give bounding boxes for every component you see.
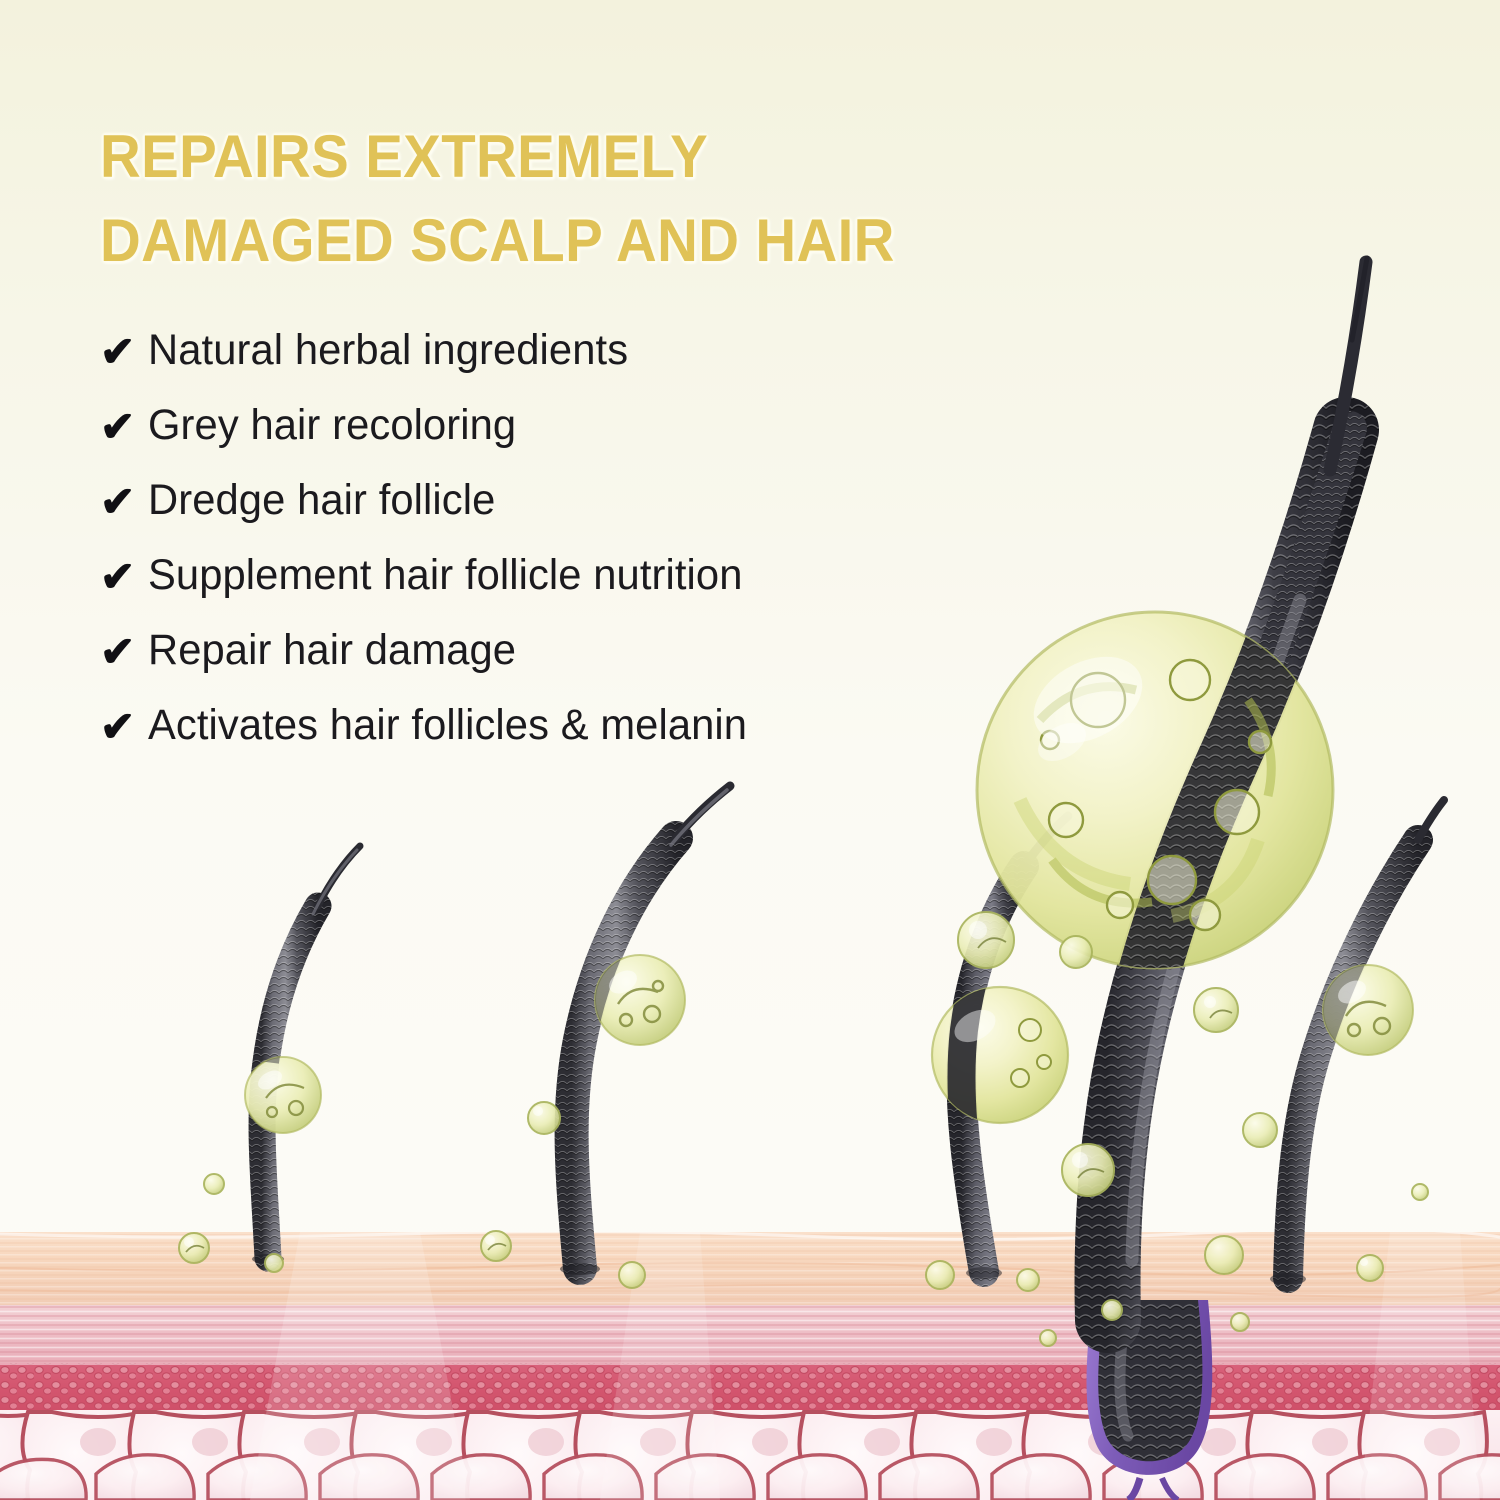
- check-icon: ✔: [100, 481, 148, 523]
- copy-block: REPAIRS EXTREMELY DAMAGED SCALP AND HAIR…: [100, 118, 1000, 774]
- list-item: ✔ Grey hair recoloring: [100, 399, 1000, 451]
- benefit-label: Dredge hair follicle: [148, 474, 495, 526]
- benefit-label: Activates hair follicles & melanin: [148, 699, 747, 751]
- check-icon: ✔: [100, 406, 148, 448]
- fat-cell-layer: [0, 1412, 1500, 1500]
- list-item: ✔ Activates hair follicles & melanin: [100, 699, 1000, 751]
- benefits-list: ✔ Natural herbal ingredients ✔ Grey hair…: [100, 324, 1000, 751]
- benefit-label: Supplement hair follicle nutrition: [148, 549, 743, 601]
- headline-line-2: DAMAGED SCALP AND HAIR: [100, 202, 946, 280]
- list-item: ✔ Repair hair damage: [100, 624, 1000, 676]
- list-item: ✔ Dredge hair follicle: [100, 474, 1000, 526]
- product-feature-poster: REPAIRS EXTREMELY DAMAGED SCALP AND HAIR…: [0, 0, 1500, 1500]
- benefit-label: Grey hair recoloring: [148, 399, 516, 451]
- check-icon: ✔: [100, 556, 148, 598]
- check-icon: ✔: [100, 706, 148, 748]
- check-icon: ✔: [100, 331, 148, 373]
- headline-line-1: REPAIRS EXTREMELY: [100, 118, 946, 196]
- list-item: ✔ Natural herbal ingredients: [100, 324, 1000, 376]
- list-item: ✔ Supplement hair follicle nutrition: [100, 549, 1000, 601]
- benefit-label: Natural herbal ingredients: [148, 324, 628, 376]
- benefit-label: Repair hair damage: [148, 624, 516, 676]
- check-icon: ✔: [100, 631, 148, 673]
